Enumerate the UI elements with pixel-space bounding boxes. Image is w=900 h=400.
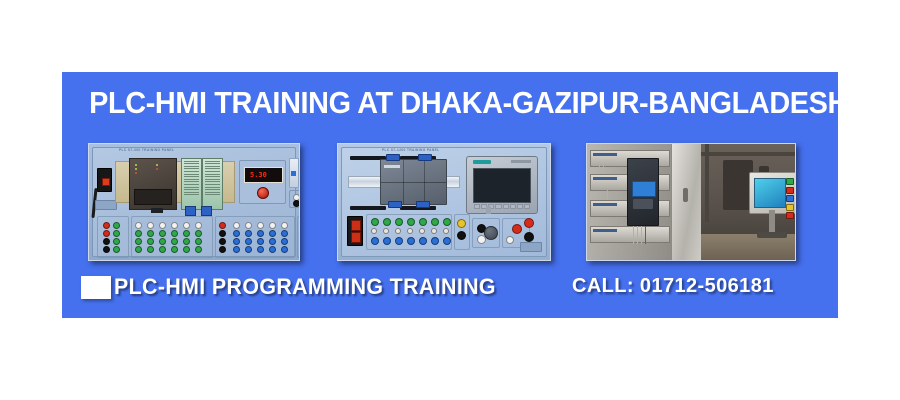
cabinet-door: [671, 144, 703, 260]
banana-jack: [383, 237, 391, 245]
banana-jack: [281, 238, 288, 245]
cpu-led: [156, 168, 158, 170]
terminal-strip: [350, 206, 386, 210]
connector-plug: [185, 206, 196, 216]
terminal-block: [593, 177, 617, 180]
banana-jack: [219, 246, 226, 253]
siemens-logo: [473, 160, 491, 164]
banana-jack: [113, 246, 120, 253]
banana-jack: [457, 219, 466, 228]
potentiometer: [289, 158, 299, 188]
banana-jack: [371, 228, 377, 234]
power-switch-rocker: [102, 178, 110, 186]
hmi-operator-panel[interactable]: [749, 172, 796, 214]
indicator-led: [407, 218, 415, 226]
indicator-led: [371, 218, 379, 226]
indicator-led: [443, 218, 451, 226]
indicator-led: [395, 218, 403, 226]
hmi-button-blue[interactable]: [786, 195, 794, 202]
banana-jack: [159, 230, 166, 237]
hmi-model-label: [511, 160, 531, 163]
module-seam: [424, 160, 425, 204]
plc-s7-300-illustration: PLC S7-300 TRAINING PANEL: [89, 144, 299, 260]
wire: [599, 164, 600, 174]
bottom-caption-row: PLC-HMI PROGRAMMING TRAINING CALL: 01712…: [62, 270, 838, 312]
photo-plc-s7-1200-training-panel[interactable]: PLC S7-1200 TRAINING PANEL: [337, 143, 551, 261]
banana-jack: [281, 222, 288, 229]
power-switch: [347, 216, 363, 246]
push-button: [524, 218, 534, 228]
banana-jack: [113, 230, 120, 237]
banana-jack: [171, 222, 178, 229]
banana-jack: [269, 238, 276, 245]
cpu-led: [156, 164, 158, 166]
phone-callout: CALL: 01712-506181: [572, 275, 774, 298]
banana-jack: [407, 228, 413, 234]
wire: [641, 226, 642, 244]
hmi-button-green[interactable]: [786, 178, 794, 185]
hmi-button-red[interactable]: [786, 187, 794, 194]
banana-jack: [219, 222, 226, 229]
banana-jack: [383, 228, 389, 234]
indicator-led: [431, 218, 439, 226]
banana-jack: [195, 246, 202, 253]
cpu-led: [135, 168, 137, 170]
vfd-keypad: [633, 199, 653, 209]
banana-jack: [245, 222, 252, 229]
banana-jack: [147, 246, 154, 253]
banana-jack: [233, 238, 240, 245]
banana-jack: [233, 222, 240, 229]
cpu-connector-slot: [134, 189, 172, 205]
banana-jack: [195, 222, 202, 229]
panel-caption-label: PLC S7-300 TRAINING PANEL: [119, 148, 174, 152]
digital-display: 5.30: [244, 167, 283, 183]
panel-stand-base: [757, 232, 787, 238]
cpu-led-error: [135, 172, 137, 174]
banana-jack: [195, 238, 202, 245]
banana-jack: [135, 238, 142, 245]
hmi-function-keys[interactable]: [474, 204, 530, 209]
banana-jack: [135, 222, 142, 229]
banana-jack: [457, 231, 466, 240]
terminal-block: [593, 153, 617, 156]
connector-plug: [418, 154, 432, 161]
wire: [645, 226, 646, 244]
banana-jack: [135, 246, 142, 253]
connector-plug: [386, 154, 400, 161]
hmi-button-red[interactable]: [786, 212, 794, 219]
selector-stem: [486, 206, 491, 214]
brand-logo: [520, 242, 542, 252]
door-handle: [683, 188, 688, 202]
banana-jack: [135, 230, 142, 237]
banana-jack: [257, 238, 264, 245]
banana-jack: [103, 238, 110, 245]
banana-jack: [269, 222, 276, 229]
power-switch-rocker: [351, 232, 361, 243]
push-button: [524, 232, 534, 242]
cable-plug: [151, 208, 163, 213]
structural-beam: [701, 152, 796, 156]
banana-jack: [113, 238, 120, 245]
control-cabinet-illustration: [587, 144, 795, 260]
banana-jack: [183, 238, 190, 245]
banana-jack: [183, 222, 190, 229]
photo-row: PLC S7-300 TRAINING PANEL: [62, 143, 838, 261]
banana-jack: [219, 230, 226, 237]
terminal-block: [593, 229, 617, 232]
banana-jack: [171, 230, 178, 237]
banana-jack: [183, 246, 190, 253]
banana-jack: [233, 246, 240, 253]
banner-canvas: PLC-HMI TRAINING AT DHAKA-GAZIPUR-BANGLA…: [0, 0, 900, 400]
power-switch: [97, 168, 112, 192]
banana-jack: [171, 246, 178, 253]
wire: [633, 226, 634, 244]
banana-jack: [233, 230, 240, 237]
banana-jack: [293, 200, 300, 207]
banana-jack: [159, 246, 166, 253]
banana-jack: [113, 222, 120, 229]
vfd-drive: [627, 158, 659, 226]
meter-value: 5.30: [250, 171, 267, 180]
banana-jack: [245, 230, 252, 237]
connector-plug: [388, 201, 402, 208]
plc-s7-1200-illustration: PLC S7-1200 TRAINING PANEL: [338, 144, 550, 260]
panel-caption-label: PLC S7-1200 TRAINING PANEL: [382, 148, 439, 152]
banana-jack: [506, 236, 514, 244]
power-switch-rocker: [351, 220, 361, 231]
banana-jack: [147, 222, 154, 229]
banana-jack: [431, 228, 437, 234]
banana-jack: [245, 246, 252, 253]
io-module: [202, 158, 223, 210]
push-button: [512, 224, 522, 234]
photo-industrial-control-cabinet[interactable]: [586, 143, 796, 261]
banana-jack: [183, 230, 190, 237]
banana-jack: [171, 238, 178, 245]
rotary-knob: [257, 187, 269, 199]
banana-jack: [431, 237, 439, 245]
hmi-screen[interactable]: [473, 168, 531, 203]
siemens-hmi-touch-panel[interactable]: [466, 156, 538, 214]
hmi-button-column[interactable]: [786, 178, 794, 206]
cpu-led: [135, 164, 137, 166]
banana-jack: [257, 222, 264, 229]
banana-jack: [159, 238, 166, 245]
blue-banner-panel: PLC-HMI TRAINING AT DHAKA-GAZIPUR-BANGLA…: [62, 72, 838, 318]
plc-cpu-s7-1200: [380, 159, 447, 205]
page-title: PLC-HMI TRAINING AT DHAKA-GAZIPUR-BANGLA…: [89, 86, 811, 120]
banana-jack: [103, 246, 110, 253]
tagline-text: PLC-HMI PROGRAMMING TRAINING: [114, 274, 496, 300]
photo-plc-s7-300-training-panel[interactable]: PLC S7-300 TRAINING PANEL: [88, 143, 300, 261]
banana-jack: [281, 230, 288, 237]
selector-switch: [484, 226, 498, 240]
banana-jack: [419, 228, 425, 234]
bullet-square-marker: [81, 276, 111, 299]
siemens-brand-mark: [384, 165, 400, 168]
cpu-module: [129, 158, 177, 210]
electrical-cabinet-interior: [587, 144, 673, 260]
hmi-button-yellow[interactable]: [786, 204, 794, 211]
banana-jack: [395, 228, 401, 234]
banana-jack: [245, 238, 252, 245]
banana-jack: [147, 238, 154, 245]
banana-jack: [103, 230, 110, 237]
banana-jack: [269, 230, 276, 237]
banana-jack: [371, 237, 379, 245]
module-seam: [403, 160, 404, 204]
brand-logo: [95, 200, 117, 210]
banana-jack: [419, 237, 427, 245]
terminal-block: [593, 203, 617, 206]
banana-jack: [147, 230, 154, 237]
panel-stand-post: [769, 210, 775, 234]
io-module: [181, 158, 202, 210]
module-seam: [381, 182, 446, 183]
connector-plug: [201, 206, 212, 216]
wire: [637, 226, 638, 244]
banana-jack: [281, 246, 288, 253]
indicator-led: [383, 218, 391, 226]
banana-jack: [159, 222, 166, 229]
banana-jack: [219, 238, 226, 245]
banana-jack: [395, 237, 403, 245]
banana-jack: [257, 230, 264, 237]
meter-section: 5.30: [239, 160, 286, 204]
banana-jack: [443, 228, 449, 234]
banana-jack: [103, 222, 110, 229]
banana-jack: [269, 246, 276, 253]
indicator-led: [419, 218, 427, 226]
section-analog-io: [297, 216, 300, 258]
wire: [607, 190, 608, 200]
hmi-touchscreen[interactable]: [754, 178, 786, 208]
connector-plug: [416, 201, 430, 208]
banana-jack: [407, 237, 415, 245]
banana-jack: [257, 246, 264, 253]
banana-jack: [195, 230, 202, 237]
wire: [603, 164, 604, 174]
vfd-display: [632, 181, 656, 197]
banana-jack: [443, 237, 451, 245]
potentiometer-group: [289, 158, 300, 188]
